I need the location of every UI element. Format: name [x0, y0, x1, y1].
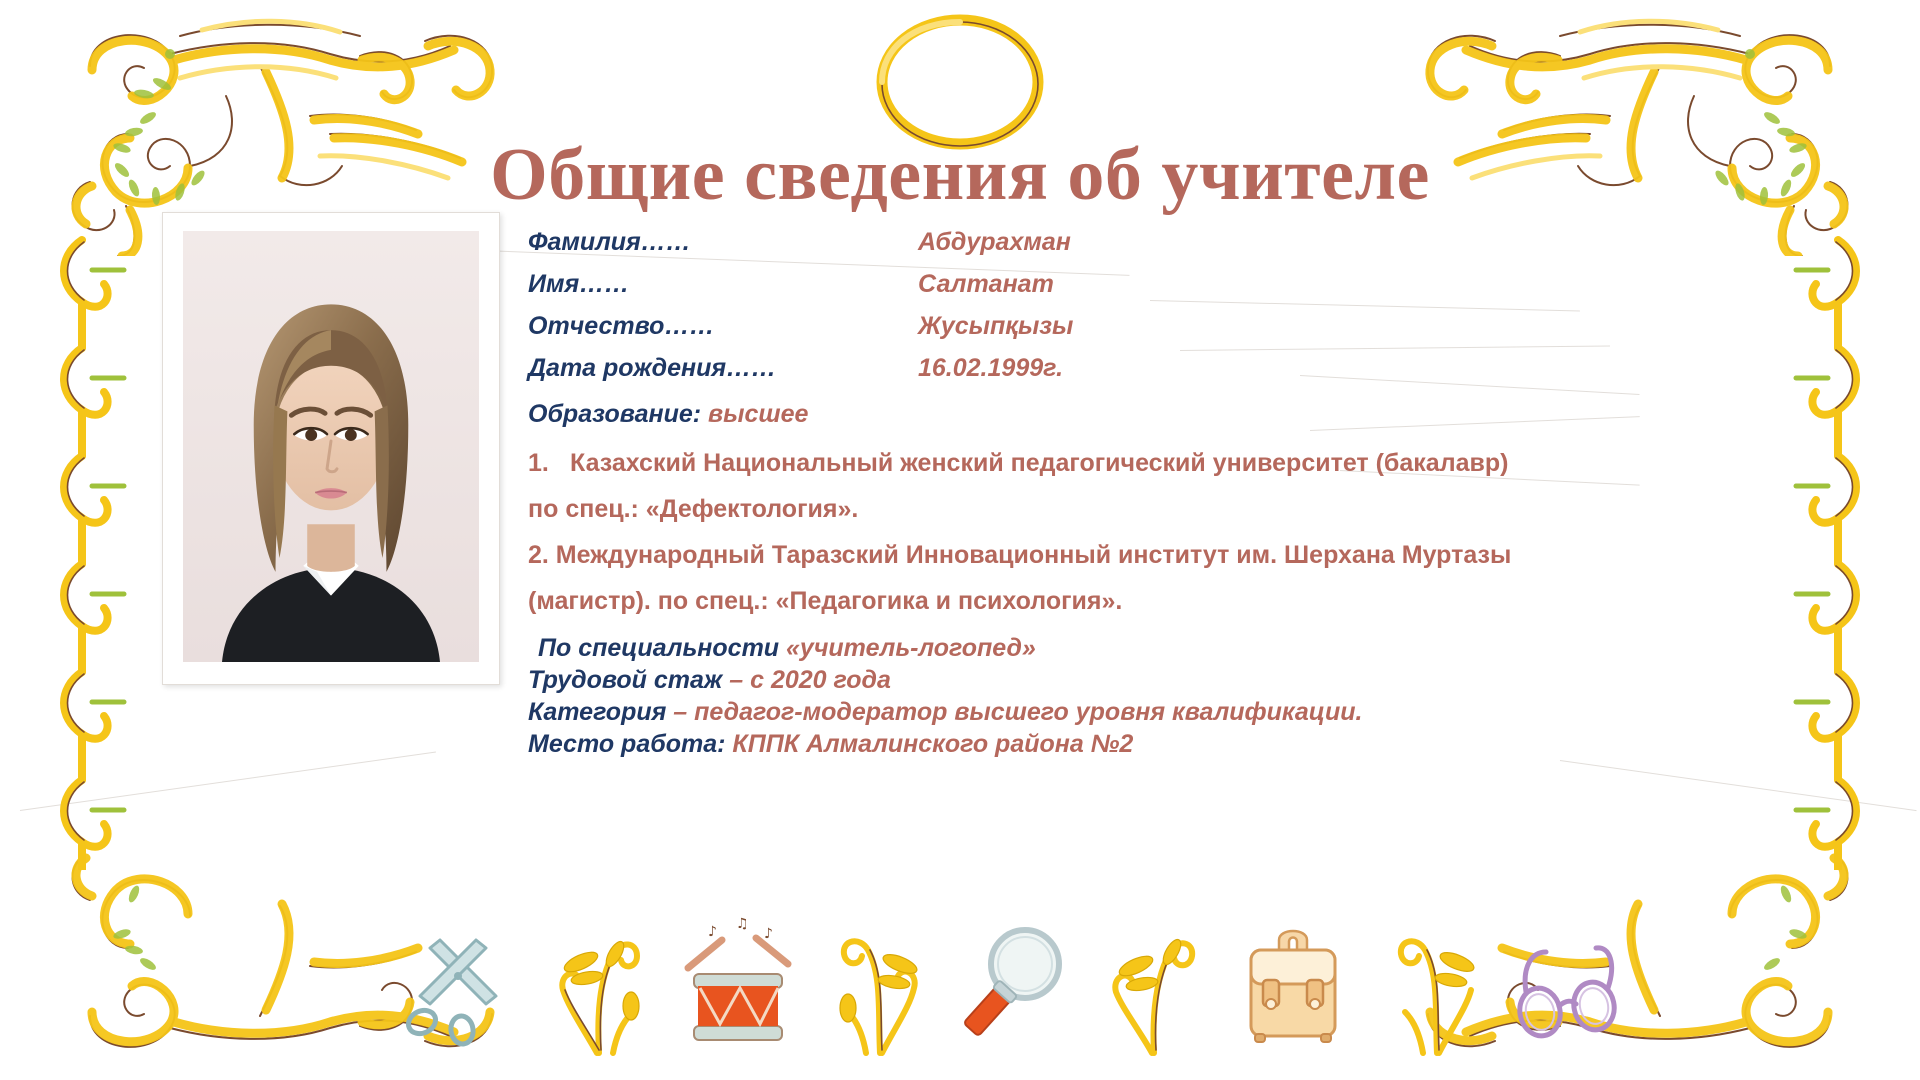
page-title: Общие сведения об учителе	[0, 138, 1920, 212]
detail-label-category: Категория	[528, 698, 666, 726]
detail-label-experience: Трудовой стаж	[528, 666, 722, 694]
education-row: Образование: высшее	[528, 400, 1468, 440]
field-label-surname: Фамилия……	[528, 228, 918, 257]
field-row-surname: Фамилия…… Абдурахман	[528, 228, 1468, 270]
detail-value-experience: – с 2020 года	[722, 666, 891, 694]
school-satchel-icon	[1233, 908, 1353, 1058]
teacher-info-block: Фамилия…… Абдурахман Имя…… Салтанат Отче…	[528, 228, 1468, 760]
education-item-text: 2. Международный Таразский Инновационный…	[528, 541, 1511, 569]
field-value-patronymic: Жусыпқызы	[918, 312, 1073, 341]
detail-row-workplace: Место работа: КППК Алмалинского района №…	[528, 728, 1468, 760]
slide-canvas: Общие сведения об учителе	[0, 0, 1920, 1080]
svg-text:♪: ♪	[708, 924, 717, 940]
details-block: По специальности «учитель-логопед» Трудо…	[528, 632, 1468, 760]
background-hairline	[20, 752, 436, 811]
teacher-photo-frame	[162, 212, 500, 685]
ornament-border-left	[38, 230, 128, 870]
detail-label-specialty: По специальности	[538, 634, 779, 662]
field-label-patronymic: Отчество……	[528, 312, 918, 341]
eyeglasses-icon	[1510, 908, 1630, 1058]
bottom-icon-strip: ♪ ♫ ♪	[400, 893, 1630, 1058]
background-hairline	[1560, 760, 1917, 811]
ornament-corner-bottom-left	[30, 826, 500, 1076]
teacher-photo	[183, 231, 479, 662]
education-item-text: Казахский Национальный женский педагогич…	[570, 449, 1508, 477]
plant-sprig-icon	[539, 908, 659, 1058]
education-label: Образование:	[528, 400, 701, 428]
svg-text:♫: ♫	[736, 916, 749, 932]
education-item: 2. Международный Таразский Инновационный…	[528, 532, 1468, 578]
field-value-firstname: Салтанат	[918, 270, 1054, 299]
education-item: 1.Казахский Национальный женский педагог…	[528, 440, 1468, 486]
field-row-birthdate: Дата рождения…… 16.02.1999г.	[528, 354, 1468, 396]
detail-row-category: Категория – педагог-модератор высшего ур…	[528, 696, 1468, 728]
detail-row-experience: Трудовой стаж – с 2020 года	[528, 664, 1468, 696]
detail-value-workplace: КППК Алмалинского района №2	[725, 730, 1133, 758]
education-item-text: (магистр). по спец.: «Педагогика и психо…	[528, 587, 1122, 615]
education-item-number: 1.	[528, 440, 570, 486]
field-row-patronymic: Отчество…… Жусыпқызы	[528, 312, 1468, 354]
magnifying-glass-icon	[955, 908, 1075, 1058]
drum-icon: ♪ ♫ ♪	[678, 908, 798, 1058]
education-item: (магистр). по спец.: «Педагогика и психо…	[528, 578, 1468, 624]
education-item-text: по спец.: «Дефектология».	[528, 495, 858, 523]
scissors-icon	[400, 908, 520, 1058]
detail-value-category: – педагог-модератор высшего уровня квали…	[666, 698, 1362, 726]
detail-row-specialty: По специальности «учитель-логопед»	[528, 632, 1468, 664]
field-label-firstname: Имя……	[528, 270, 918, 299]
svg-text:♪: ♪	[764, 926, 773, 942]
plant-sprig-icon	[1094, 908, 1214, 1058]
ornament-border-right	[1792, 230, 1882, 870]
plant-sprig-icon	[1371, 908, 1491, 1058]
field-value-surname: Абдурахман	[918, 228, 1071, 257]
ornament-corner-bottom-right	[1420, 826, 1890, 1076]
field-value-birthdate: 16.02.1999г.	[918, 354, 1063, 383]
field-row-firstname: Имя…… Салтанат	[528, 270, 1468, 312]
detail-value-specialty: «учитель-логопед»	[779, 634, 1036, 662]
ornament-corner-top-right	[1420, 6, 1890, 256]
detail-label-workplace: Место работа:	[528, 730, 725, 758]
education-value: высшее	[708, 400, 808, 428]
education-item: по спец.: «Дефектология».	[528, 486, 1468, 532]
plant-sprig-icon	[816, 908, 936, 1058]
field-label-birthdate: Дата рождения……	[528, 354, 918, 383]
